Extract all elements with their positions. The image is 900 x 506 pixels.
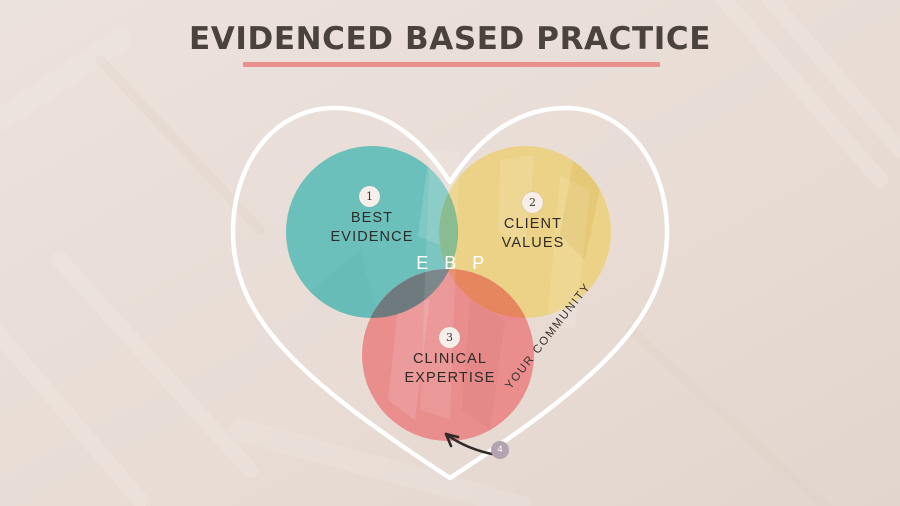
slide-canvas: EVIDENCED BASED PRACTICE bbox=[0, 0, 900, 506]
badge-2: 2 bbox=[522, 192, 543, 213]
label-clinical-expertise: CLINICAL EXPERTISE bbox=[380, 350, 520, 388]
venn-diagram: 1 BEST EVIDENCE 2 CLIENT VALUES 3 CLINIC… bbox=[0, 0, 900, 506]
core-label-ebp: E B P bbox=[393, 253, 513, 274]
label-client-values: CLIENT VALUES bbox=[463, 215, 603, 253]
badge-4: 4 bbox=[491, 441, 509, 459]
badge-1: 1 bbox=[359, 186, 380, 207]
badge-3: 3 bbox=[439, 327, 460, 348]
label-best-evidence: BEST EVIDENCE bbox=[302, 209, 442, 247]
